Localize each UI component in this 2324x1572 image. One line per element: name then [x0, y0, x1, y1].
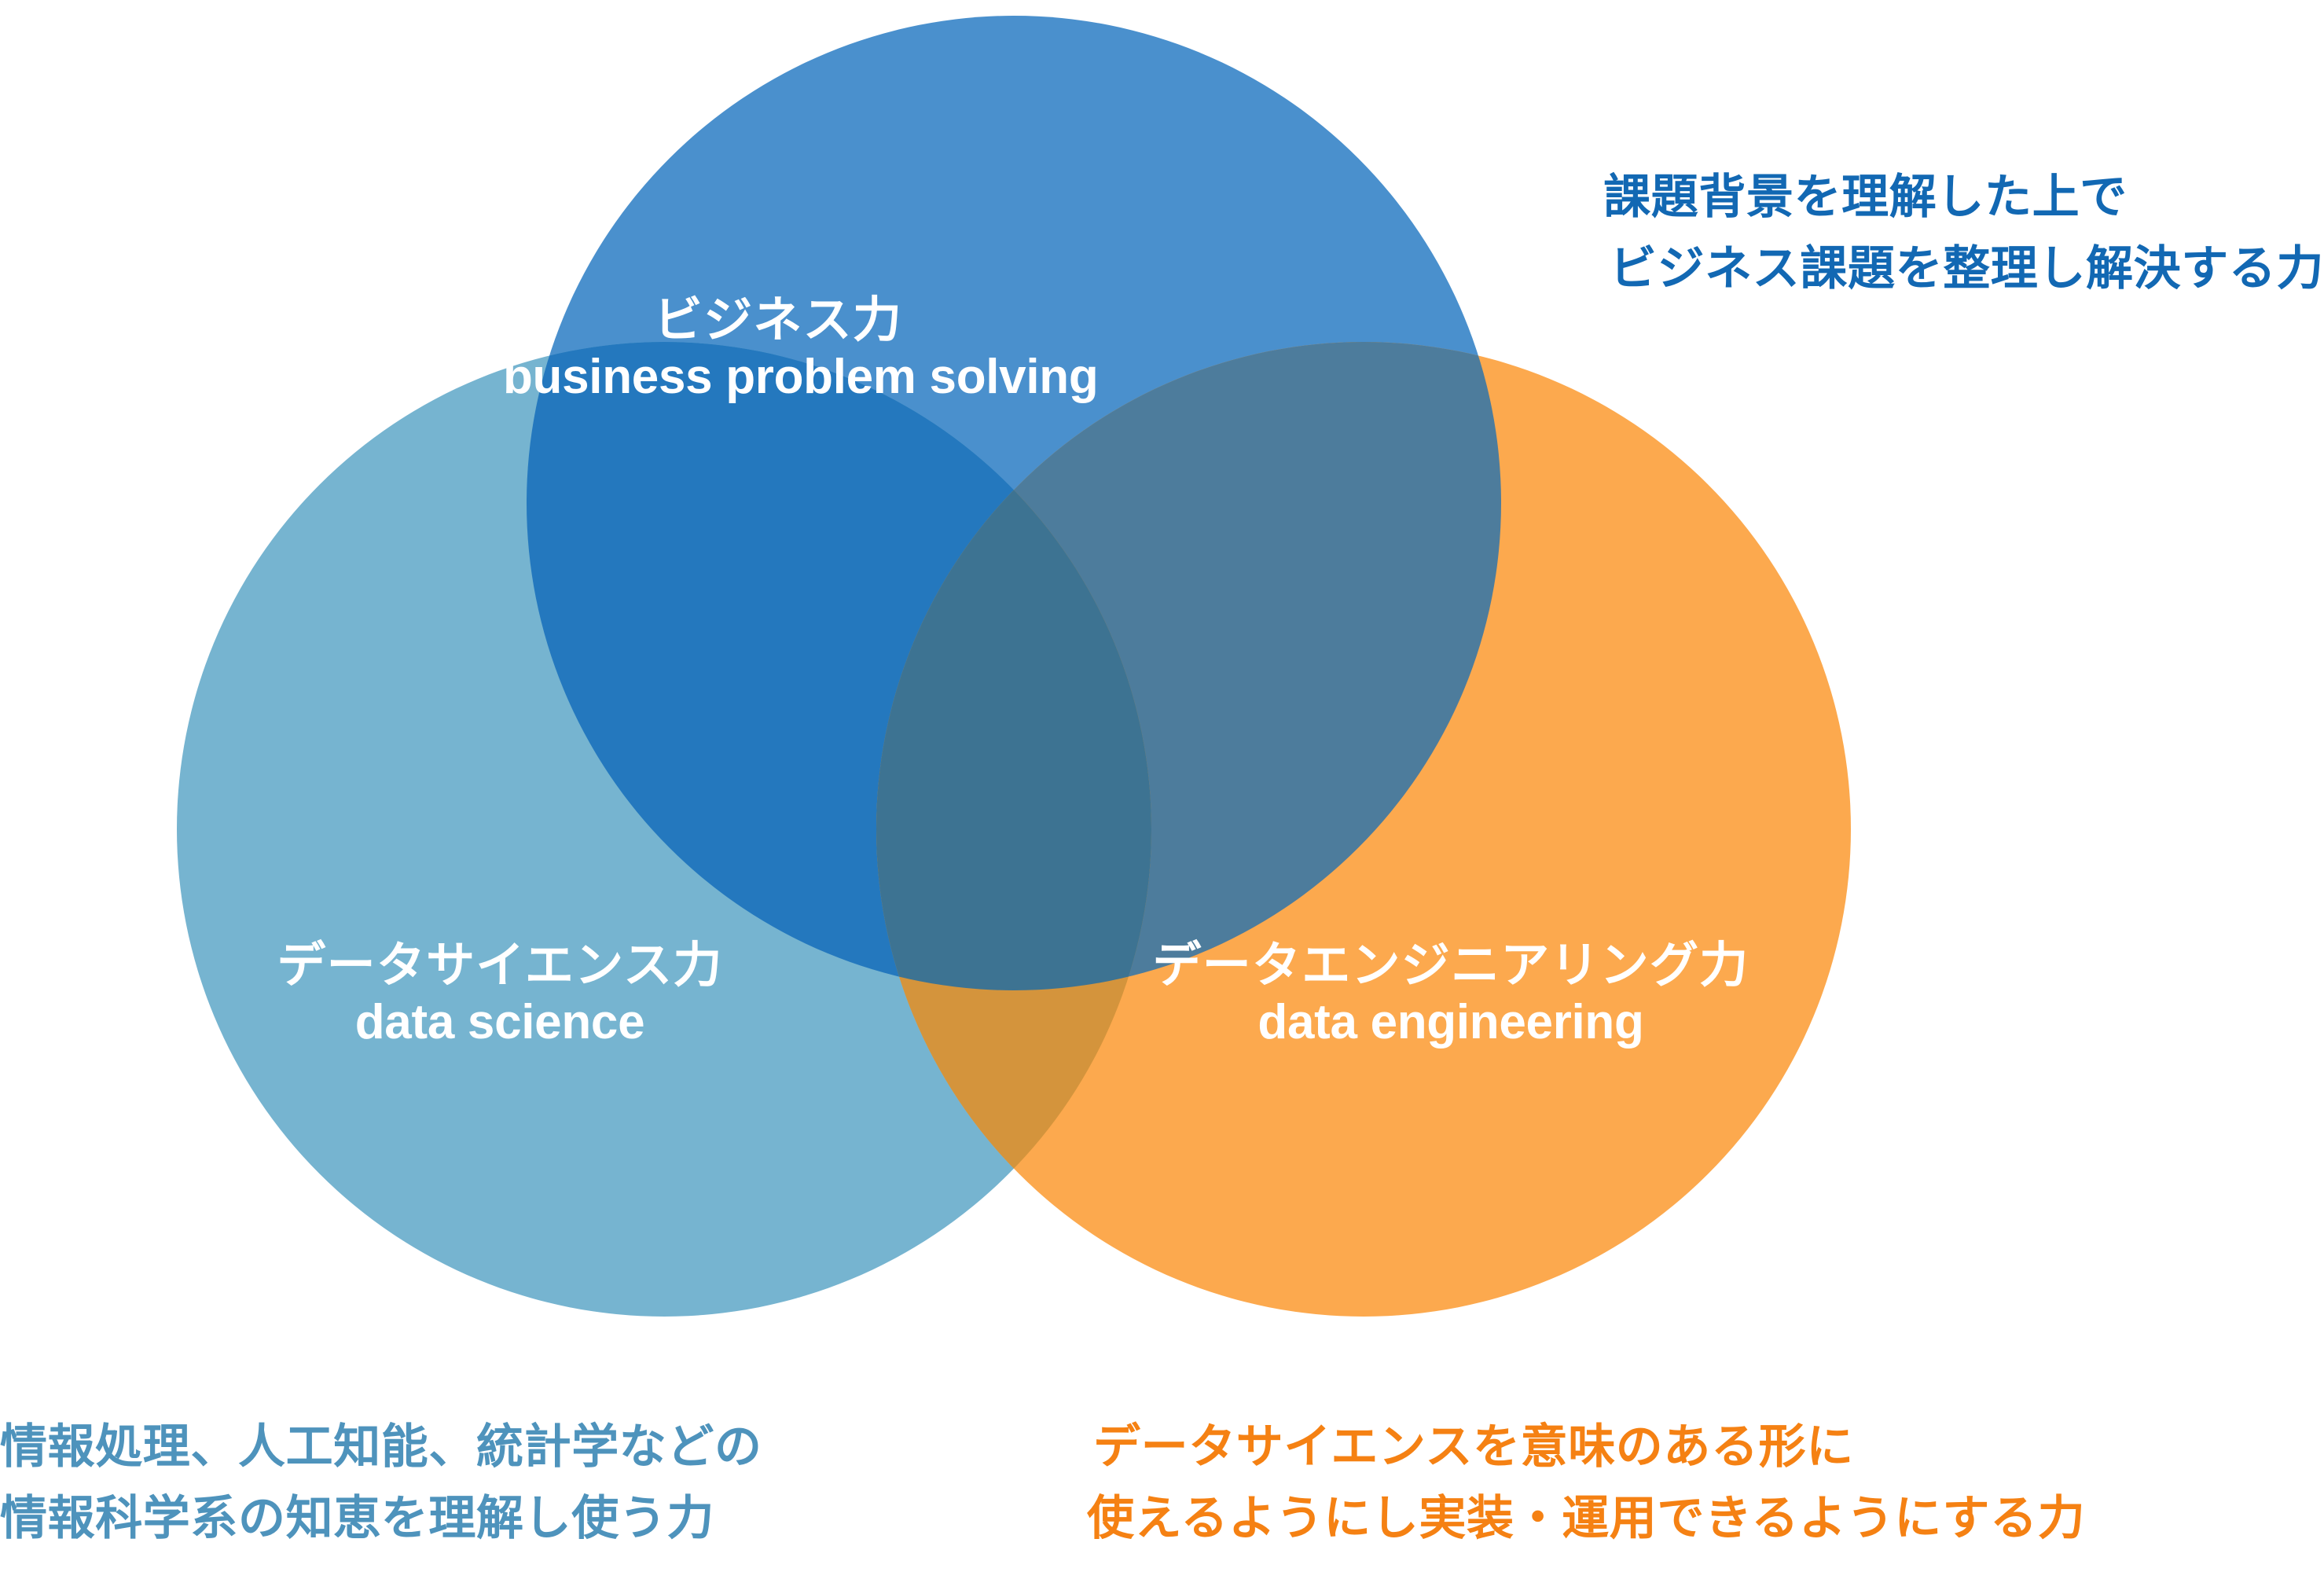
- venn-circles-canvas: [0, 0, 2324, 1572]
- venn-diagram: ビジネス力 business problem solving データサイエンス力…: [0, 0, 2324, 1572]
